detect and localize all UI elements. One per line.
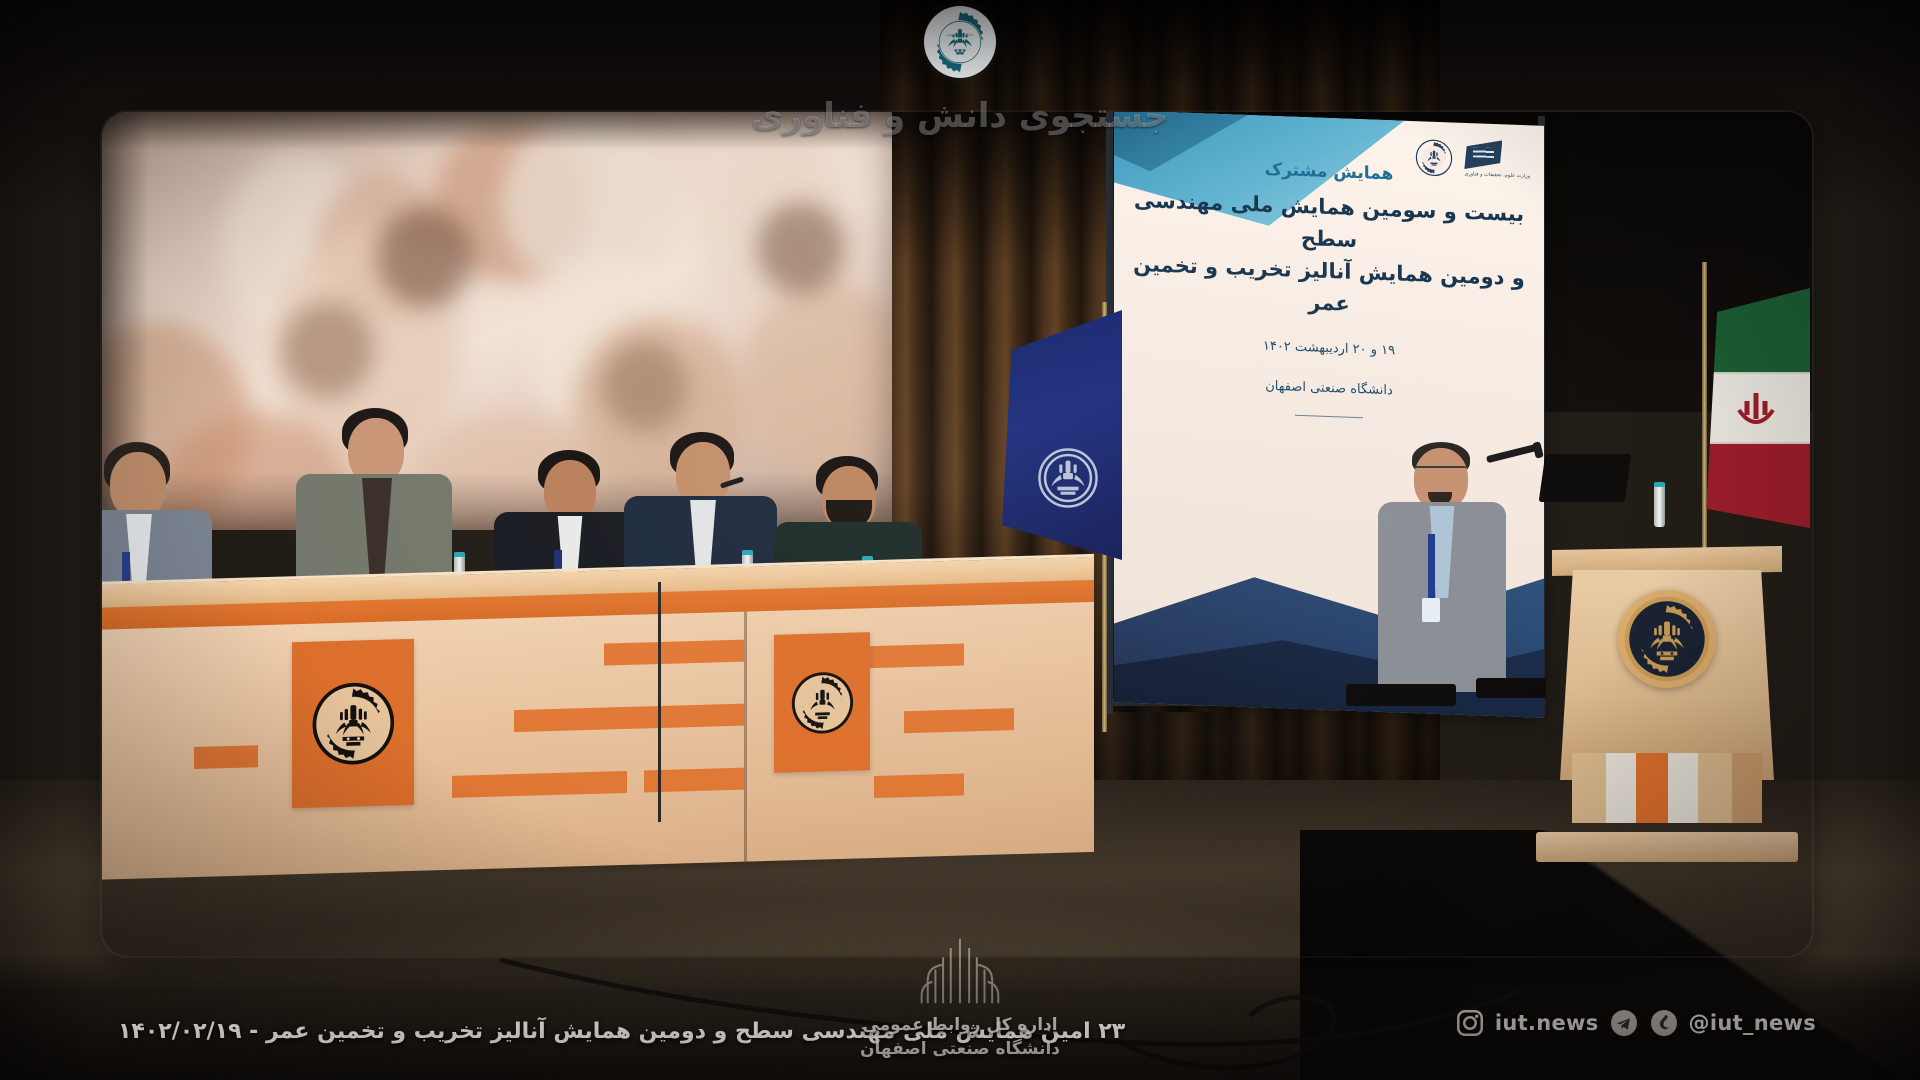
pr-office-block: اداره کل روابط عمومی دانشگاه صنعتی اصفها… bbox=[860, 935, 1060, 1062]
svg-text:دانشگاه صنعتی اصفهان: دانشگاه صنعتی اصفهان bbox=[946, 32, 974, 36]
banner-title-line2: و دومین همایش آنالیز تخریب و تخمین عمر bbox=[1132, 249, 1526, 327]
iran-flag bbox=[1702, 288, 1810, 528]
watermark-wordmark: جستجوی دانش و فناوری bbox=[751, 96, 1168, 136]
photo-card-stage: دانشگاه صنعتی اصفهان جستجوی دانش و فناور… bbox=[0, 0, 1920, 1080]
inset-photograph: وزارت علوم، تحقیقات و فناوری همایش مشترک… bbox=[102, 112, 1812, 956]
iran-flag-emblem bbox=[1702, 288, 1810, 528]
telegram-icon[interactable] bbox=[1609, 1008, 1639, 1038]
iut-lineart-watermark bbox=[914, 935, 1006, 1007]
speaker bbox=[1378, 442, 1508, 692]
water-bottle bbox=[1654, 482, 1665, 527]
caption-bar: ۲۳ امین همایش ملی مهندسی سطح و دومین هما… bbox=[0, 954, 1920, 1080]
messenger-handle[interactable]: @iut_news bbox=[1689, 1011, 1816, 1035]
banner-date: ۱۹ و ۲۰ اردیبهشت ۱۴۰۲ bbox=[1132, 330, 1526, 367]
eyeglasses bbox=[1414, 466, 1466, 477]
bale-messenger-icon[interactable] bbox=[1649, 1008, 1679, 1038]
floor-equipment bbox=[1476, 678, 1546, 698]
iut-seal-logo: دانشگاه صنعتی اصفهان bbox=[927, 9, 993, 75]
header-iut-logo: دانشگاه صنعتی اصفهان bbox=[924, 6, 996, 78]
mic-cable bbox=[658, 582, 661, 822]
podium-laptop bbox=[1539, 454, 1632, 502]
lanyard bbox=[1428, 534, 1435, 600]
social-links: iut.news @iut_news bbox=[1455, 1008, 1816, 1038]
podium-stripes bbox=[1572, 753, 1762, 823]
iut-seal-emblem bbox=[307, 659, 400, 788]
banner-text-block: همایش مشترک بیست و سومین همایش ملی مهندس… bbox=[1114, 154, 1544, 425]
iut-flag-emblem bbox=[1002, 310, 1122, 560]
pr-office-line2: دانشگاه صنعتی اصفهان bbox=[860, 1037, 1060, 1062]
dais-emblem-plaque-left bbox=[292, 639, 414, 808]
dais-emblem-plaque-right bbox=[774, 632, 870, 773]
podium bbox=[1552, 548, 1782, 838]
instagram-handle[interactable]: iut.news bbox=[1495, 1011, 1599, 1035]
instagram-icon[interactable] bbox=[1455, 1008, 1485, 1038]
head-table bbox=[102, 568, 1094, 868]
ministry-of-science-logo bbox=[1464, 139, 1502, 170]
floor-equipment bbox=[1346, 684, 1456, 706]
iut-seal-emblem bbox=[1621, 593, 1713, 685]
banner-divider bbox=[1295, 415, 1363, 419]
pr-office-line1: اداره کل روابط عمومی bbox=[860, 1013, 1060, 1038]
iut-flag bbox=[1002, 310, 1122, 560]
name-badge bbox=[1422, 598, 1440, 622]
banner-venue: دانشگاه صنعتی اصفهان bbox=[1132, 370, 1526, 407]
iut-seal-emblem bbox=[786, 649, 859, 756]
podium-emblem bbox=[1618, 590, 1716, 688]
